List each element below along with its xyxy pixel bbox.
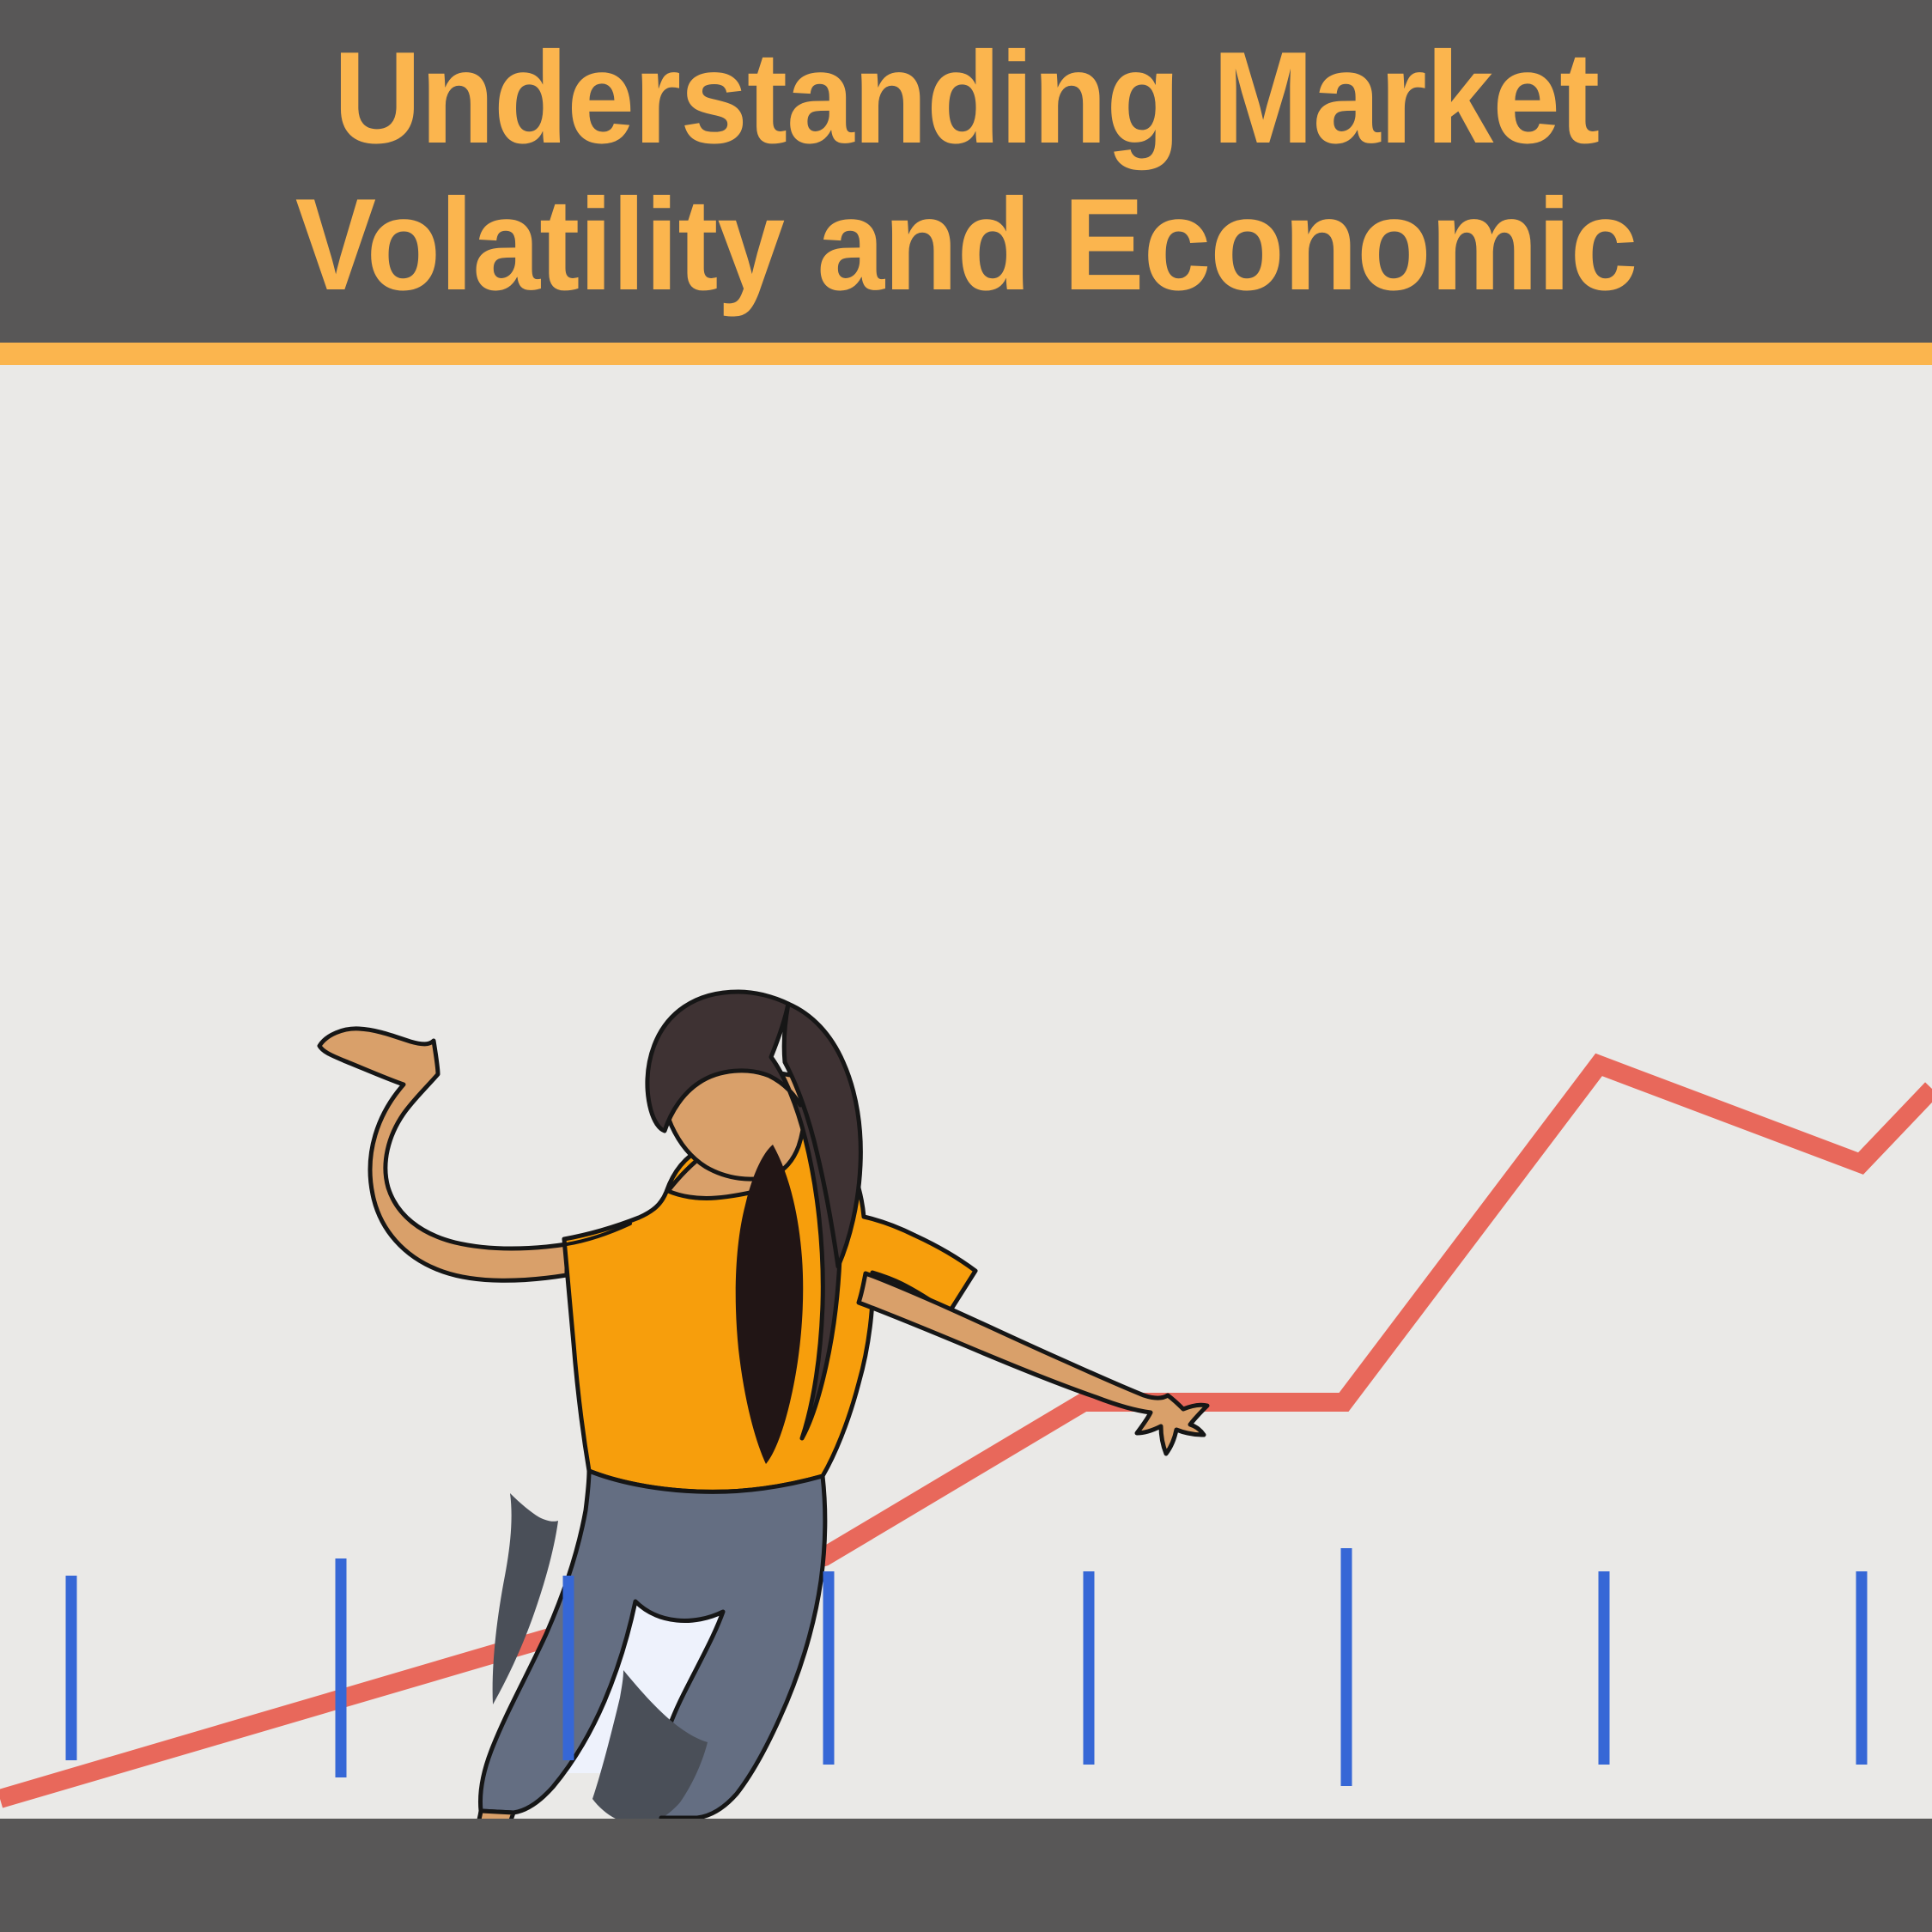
title-line-2: Volatility and Economic [295, 172, 1637, 318]
page-title: Understanding Market Volatility and Econ… [0, 0, 1932, 343]
accent-bar [0, 343, 1932, 365]
title-line-1: Understanding Market [333, 25, 1599, 171]
poster-canvas: Understanding Market Volatility and Econ… [0, 0, 1932, 1932]
stage-background [0, 365, 1932, 1819]
illustration-svg [0, 365, 1932, 1819]
illustration-stage [0, 365, 1932, 1819]
footer-band [0, 1819, 1932, 1932]
